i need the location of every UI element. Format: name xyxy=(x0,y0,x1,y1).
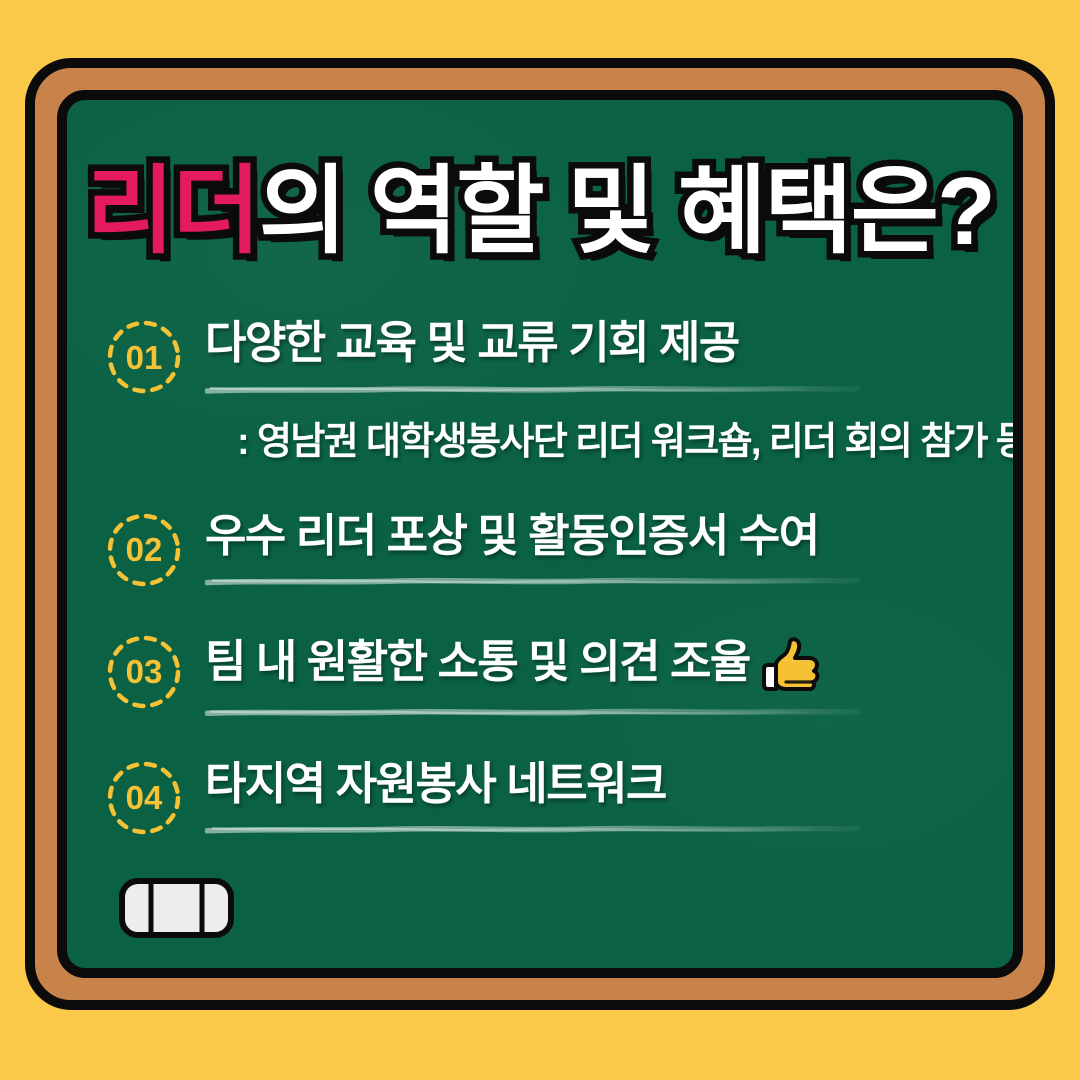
list-item[interactable]: 01 다양한 교육 및 교류 기회 제공 xyxy=(67,318,1013,465)
list-item-body: 팀 내 원활한 소통 및 의견 조율 xyxy=(205,633,1013,713)
list-item[interactable]: 02 우수 리더 포상 및 활동인증서 수여 xyxy=(67,511,1013,589)
list-item[interactable]: 04 타지역 자원봉사 네트워크 xyxy=(67,759,1013,837)
list-item-title: 다양한 교육 및 교류 기회 제공 xyxy=(205,318,1023,368)
chalk-stroke-icon xyxy=(205,825,860,834)
item-number-badge: 03 xyxy=(105,633,183,711)
item-number-badge: 02 xyxy=(105,511,183,589)
chalkboard-eraser[interactable] xyxy=(119,878,234,938)
chalk-stroke-icon xyxy=(205,577,860,586)
poster-canvas: 리더의 역할 및 혜택은? 01 다양한 교육 및 교류 기회 제공 xyxy=(0,0,1080,1080)
chalkboard: 리더의 역할 및 혜택은? 01 다양한 교육 및 교류 기회 제공 xyxy=(57,90,1023,978)
list-item-text: 우수 리더 포상 및 활동인증서 수여 xyxy=(205,511,819,561)
list-item-title: 타지역 자원봉사 네트워크 xyxy=(205,759,983,809)
list-item-subtext: : 영남권 대학생봉사단 리더 워크숍, 리더 회의 참가 등 xyxy=(237,410,1023,465)
item-number: 01 xyxy=(126,341,163,374)
item-number: 03 xyxy=(126,655,163,688)
chalk-stroke-icon xyxy=(205,385,860,394)
chalk-underline xyxy=(205,573,860,582)
list-item-body: 다양한 교육 및 교류 기회 제공 xyxy=(205,318,1023,465)
thumbs-up-icon xyxy=(760,635,822,693)
item-number: 04 xyxy=(126,781,163,814)
chalk-underline xyxy=(205,821,860,830)
page-title-rest: 의 역할 및 혜택은? xyxy=(259,158,994,265)
list-item-title: 우수 리더 포상 및 활동인증서 수여 xyxy=(205,511,983,561)
chalk-stroke-icon xyxy=(205,708,860,717)
item-number-badge: 04 xyxy=(105,759,183,837)
chalk-underline xyxy=(205,381,860,390)
chalk-underline xyxy=(205,704,860,713)
page-title: 리더의 역할 및 혜택은? xyxy=(67,162,1013,263)
list-item-text: 다양한 교육 및 교류 기회 제공 xyxy=(205,318,739,368)
list-item-text: 팀 내 원활한 소통 및 의견 조율 xyxy=(205,637,750,687)
list-item-text: 타지역 자원봉사 네트워크 xyxy=(205,759,666,809)
list-item[interactable]: 03 팀 내 원활한 소통 및 의견 조율 xyxy=(67,633,1013,713)
item-number-badge: 01 xyxy=(105,318,183,396)
list-item-body: 타지역 자원봉사 네트워크 xyxy=(205,759,1013,831)
page-title-highlight: 리더 xyxy=(86,158,259,265)
item-number: 02 xyxy=(126,533,163,566)
list-item-body: 우수 리더 포상 및 활동인증서 수여 xyxy=(205,511,1013,583)
chalkboard-frame: 리더의 역할 및 혜택은? 01 다양한 교육 및 교류 기회 제공 xyxy=(25,58,1055,1010)
list-item-title: 팀 내 원활한 소통 및 의견 조율 xyxy=(205,633,983,691)
benefits-list: 01 다양한 교육 및 교류 기회 제공 xyxy=(67,318,1013,837)
